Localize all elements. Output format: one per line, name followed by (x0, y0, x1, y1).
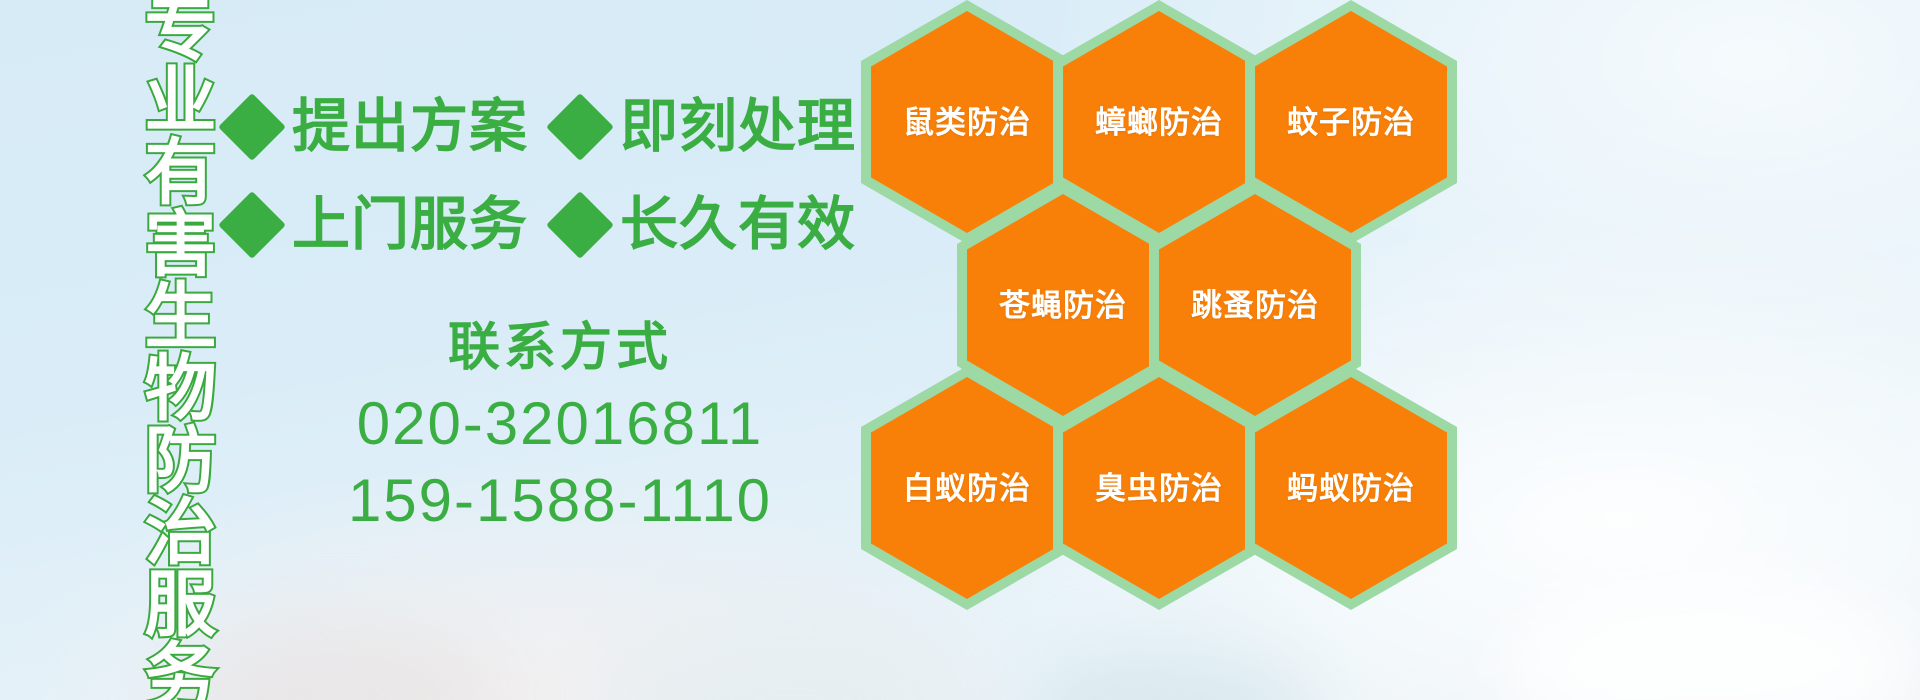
feature-item-long-lasting: 长久有效 (556, 196, 856, 254)
hex-label: 蚂蚁防治 (1287, 473, 1415, 504)
background-blur-blob (180, 620, 500, 700)
vertical-headline: 专业有害生物防治服务 (104, 14, 206, 686)
feature-label: 长久有效 (620, 196, 856, 254)
feature-label: 上门服务 (292, 196, 528, 254)
feature-label: 提出方案 (292, 98, 528, 156)
hex-label: 鼠类防治 (903, 107, 1031, 138)
feature-row: 上门服务 长久有效 (228, 176, 868, 274)
contact-phone-mobile[interactable]: 159-1588-1110 (300, 463, 820, 540)
feature-item-immediate-action: 即刻处理 (556, 98, 856, 156)
feature-item-onsite-service: 上门服务 (228, 196, 528, 254)
hex-inner-fill: 蚂蚁防治 (1255, 377, 1447, 599)
hex-label: 苍蝇防治 (999, 290, 1127, 321)
hex-label: 臭虫防治 (1095, 473, 1223, 504)
feature-row: 提出方案 即刻处理 (228, 78, 868, 176)
contact-phone-landline[interactable]: 020-32016811 (300, 386, 820, 463)
feature-list: 提出方案 即刻处理 上门服务 长久有效 (228, 78, 868, 274)
hex-label: 蟑螂防治 (1095, 107, 1223, 138)
feature-label: 即刻处理 (620, 98, 856, 156)
diamond-bullet-icon (546, 93, 614, 161)
hex-inner-fill: 白蚁防治 (871, 377, 1063, 599)
diamond-bullet-icon (218, 93, 286, 161)
hex-label: 跳蚤防治 (1191, 290, 1319, 321)
diamond-bullet-icon (218, 191, 286, 259)
hex-label: 白蚁防治 (903, 473, 1031, 504)
hex-inner-fill: 臭虫防治 (1063, 377, 1255, 599)
promo-banner: 专业有害生物防治服务 提出方案 即刻处理 上门服务 长久有效 联 (0, 0, 1920, 700)
contact-title: 联系方式 (300, 318, 820, 378)
feature-item-propose-plan: 提出方案 (228, 98, 528, 156)
diamond-bullet-icon (546, 191, 614, 259)
contact-block: 联系方式 020-32016811 159-1588-1110 (300, 318, 820, 540)
service-hex-grid: 鼠类防治 蟑螂防治 蚊子防治 苍蝇防治 跳蚤防治 白蚁防治 (855, 0, 1785, 700)
hex-label: 蚊子防治 (1287, 107, 1415, 138)
